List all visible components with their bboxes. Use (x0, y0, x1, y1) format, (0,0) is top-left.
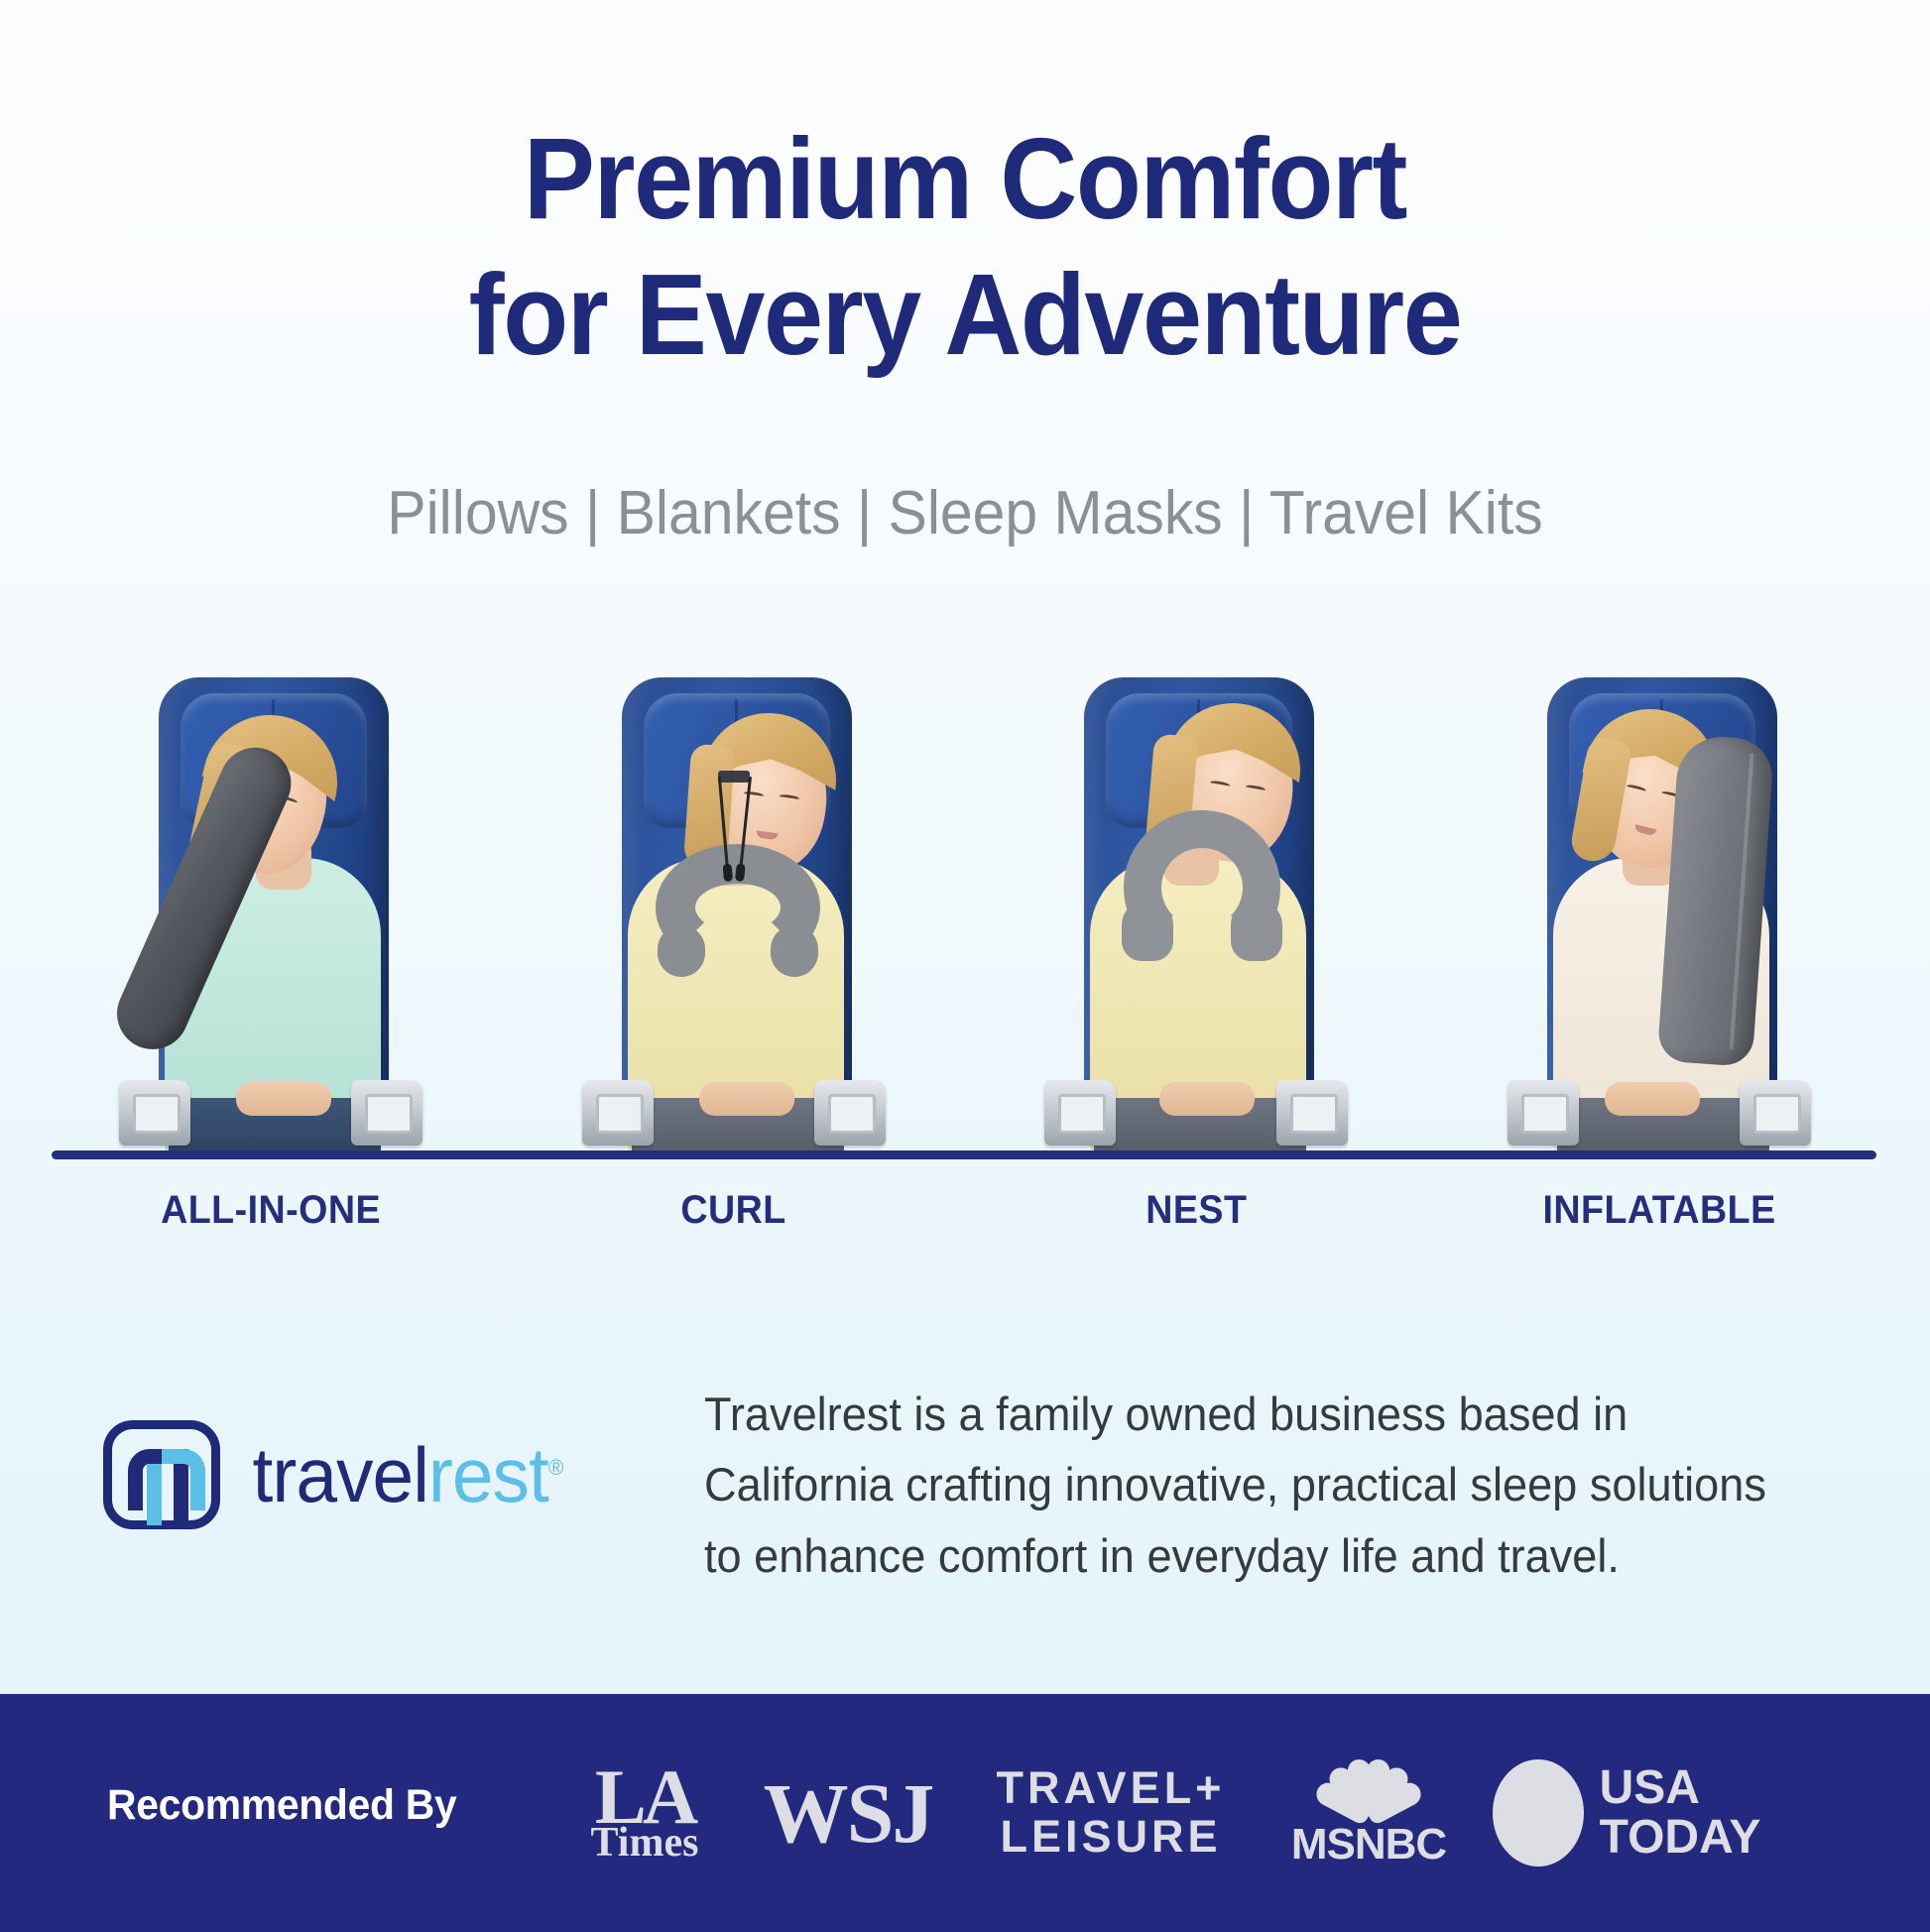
armrest-left (1508, 1080, 1579, 1146)
category-subtitle: Pillows | Blankets | Sleep Masks | Trave… (49, 478, 1882, 548)
travelrest-monogram-icon (103, 1420, 220, 1529)
pillow-lobe-right (771, 925, 818, 977)
nbc-peacock-icon (1317, 1756, 1420, 1816)
product-photo-nest[interactable] (965, 660, 1428, 1155)
registered-trademark-icon: ® (548, 1455, 563, 1480)
usa-today-text: USA TODAY (1600, 1763, 1761, 1864)
press-footer: Recommended By LA Times WSJ TRAVEL+ LEIS… (0, 1694, 1930, 1932)
brand-description: Travelrest is a family owned business ba… (704, 1379, 1780, 1591)
product-label-nest: NEST (1146, 1188, 1247, 1233)
pillow-wing-right (1231, 900, 1282, 961)
model-hands (1605, 1082, 1700, 1116)
recommended-by-label: Recommended By (107, 1781, 456, 1830)
product-label-cell: INFLATABLE (1428, 1188, 1891, 1233)
press-logo-la-times[interactable]: LA Times (555, 1734, 734, 1892)
seat-scene (107, 660, 434, 1155)
armrest-right (1276, 1080, 1348, 1146)
pillow-lobe-left (658, 925, 705, 977)
armrest-left (1044, 1080, 1116, 1146)
brand-wordmark: travelrest® (253, 1436, 563, 1513)
armrest-left (582, 1080, 654, 1146)
press-logo-usa-today[interactable]: USA TODAY (1478, 1734, 1775, 1892)
brand-logo[interactable]: travelrest® (103, 1420, 569, 1529)
armrest-right (814, 1080, 886, 1146)
section-divider (52, 1150, 1876, 1159)
wordmark-travel: travel (253, 1431, 428, 1518)
armrest-right (1740, 1080, 1811, 1146)
travel-leisure-line1: TRAVEL+ (997, 1764, 1226, 1813)
press-logo-travel-leisure[interactable]: TRAVEL+ LEISURE (962, 1734, 1260, 1892)
page-title: Premium Comfort for Every Adventure (67, 111, 1863, 383)
model-hands (699, 1082, 794, 1116)
seat-scene (1496, 660, 1823, 1155)
product-label-cell: NEST (965, 1188, 1428, 1233)
model-eye-left (1626, 784, 1646, 793)
seat-scene (570, 660, 898, 1155)
wordmark-rest: rest (428, 1431, 548, 1518)
product-label-row: ALL-IN-ONE CURL NEST INFLATABLE (40, 1188, 1890, 1233)
seat-scene (1032, 660, 1360, 1155)
model-eye-right (779, 793, 799, 801)
nest-neck-pillow (1124, 810, 1280, 965)
pillow-cord-clip (718, 771, 750, 783)
monogram-stroke-light (162, 1449, 205, 1510)
usa-today-line1: USA (1600, 1763, 1761, 1813)
product-photo-all-in-one[interactable] (40, 660, 503, 1155)
travel-leisure-line2: LEISURE (1000, 1813, 1221, 1862)
product-gallery (40, 660, 1890, 1155)
wsj-text: WSJ (764, 1763, 933, 1863)
press-logo-row: LA Times WSJ TRAVEL+ LEISURE MS (555, 1734, 1865, 1892)
armrest-left (119, 1080, 190, 1146)
armrest-right (351, 1080, 422, 1146)
product-photo-curl[interactable] (503, 660, 966, 1155)
promo-graphic: Premium Comfort for Every Adventure Pill… (0, 0, 1930, 1932)
product-label-all-in-one: ALL-IN-ONE (161, 1188, 381, 1233)
pillow-wing-left (1122, 900, 1173, 961)
la-times-times-text: Times (591, 1826, 699, 1862)
model-mouth (1633, 824, 1656, 836)
product-label-inflatable: INFLATABLE (1542, 1188, 1775, 1233)
usa-today-circle-icon (1493, 1759, 1584, 1867)
press-logo-wsj[interactable]: WSJ (734, 1734, 962, 1892)
model-eye-left (1210, 780, 1231, 787)
product-photo-inflatable[interactable] (1428, 660, 1891, 1155)
model-eye-right (1246, 785, 1267, 792)
msnbc-text: MSNBC (1291, 1820, 1446, 1870)
product-label-cell: CURL (503, 1188, 966, 1233)
model-hands (236, 1082, 331, 1116)
brand-section: travelrest® Travelrest is a family owned… (0, 1379, 1930, 1617)
product-label-cell: ALL-IN-ONE (40, 1188, 503, 1233)
press-logo-msnbc[interactable]: MSNBC (1260, 1734, 1478, 1892)
model-mouth (756, 830, 779, 840)
product-label-curl: CURL (681, 1188, 786, 1233)
usa-today-line2: TODAY (1600, 1813, 1761, 1863)
model-hands (1159, 1082, 1255, 1116)
